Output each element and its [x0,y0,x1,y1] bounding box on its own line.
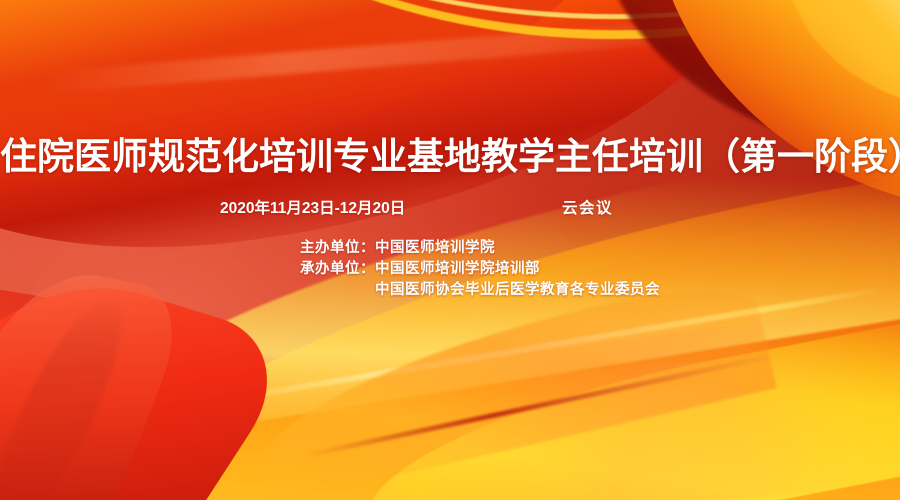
organizer-block: 主办单位： 中国医师培训学院 承办单位： 中国医师培训学院培训部 中国医师协会毕… [0,238,900,301]
event-venue: 云会议 [562,198,613,220]
organizer-value-host: 中国医师培训学院 [375,238,495,259]
organizer-value-continuation: 中国医师协会毕业后医学教育各专业委员会 [375,280,660,301]
organizer-line: 主办单位： 中国医师培训学院 [0,238,900,259]
event-date: 2020年11月23日-12月20日 [220,198,405,220]
organizer-label-host: 主办单位： [0,238,375,259]
organizer-value-coorganizer: 中国医师培训学院培训部 [375,259,540,280]
banner-title: 住院医师规范化培训专业基地教学主任培训（第一阶段） [0,134,900,180]
organizer-label-continuation [0,280,375,301]
organizer-line: 承办单位： 中国医师培训学院培训部 [0,259,900,280]
banner-content: 住院医师规范化培训专业基地教学主任培训（第一阶段） 2020年11月23日-12… [0,0,900,500]
organizer-line: 中国医师协会毕业后医学教育各专业委员会 [0,280,900,301]
event-banner: 住院医师规范化培训专业基地教学主任培训（第一阶段） 2020年11月23日-12… [0,0,900,500]
organizer-label-coorganizer: 承办单位： [0,259,375,280]
